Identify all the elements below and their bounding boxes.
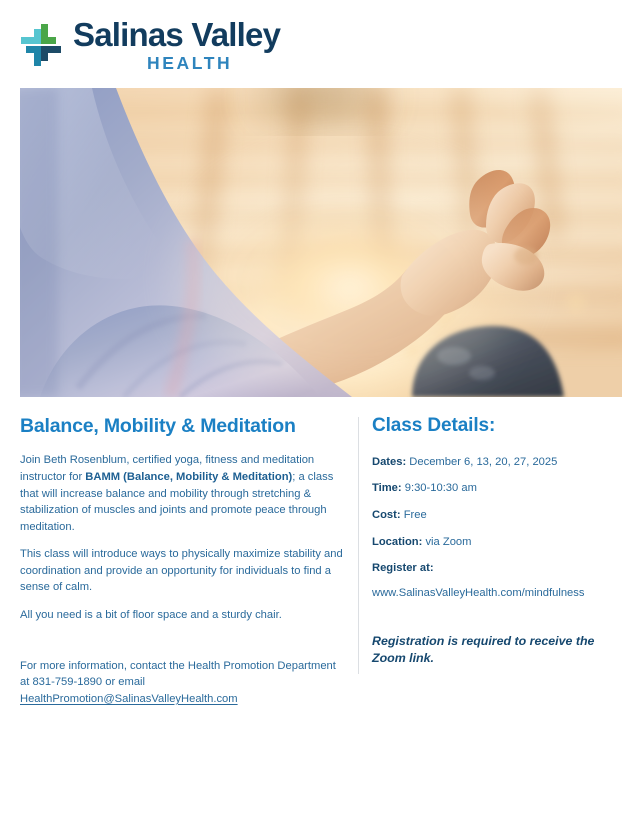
contact-block: For more information, contact the Health… (20, 658, 346, 708)
text-run: All you need is a bit of floor space and… (20, 609, 282, 621)
detail-row: Dates: December 6, 13, 20, 27, 2025 (372, 455, 622, 471)
paragraph-overview: This class will introduce ways to physic… (20, 546, 346, 596)
emphasized-text: BAMM (Balance, Mobility & Meditation) (85, 471, 292, 483)
detail-row: Time: 9:30-10:30 am (372, 481, 622, 497)
email-link[interactable]: HealthPromotion@SalinasValleyHealth.com (20, 693, 238, 705)
paragraph-requirements: All you need is a bit of floor space and… (20, 607, 346, 624)
detail-label: Register at: (372, 562, 434, 574)
wordmark-primary: Salinas Valley (73, 18, 280, 52)
detail-value: via Zoom (422, 536, 471, 548)
wordmark-secondary: HEALTH (147, 55, 232, 73)
detail-row: Cost: Free (372, 508, 622, 524)
description-paragraphs: Join Beth Rosenblum, certified yoga, fit… (20, 452, 346, 623)
detail-label: Dates: (372, 456, 406, 468)
detail-row: Register at: (372, 561, 622, 577)
detail-label: Location: (372, 536, 422, 548)
registration-notice: Registration is required to receive the … (372, 633, 622, 666)
hero-photo (20, 88, 622, 397)
detail-label: Time: (372, 482, 402, 494)
right-column: Class Details: Dates: December 6, 13, 20… (372, 415, 622, 666)
detail-value: 9:30-10:30 am (402, 482, 477, 494)
brand-wordmark: Salinas Valley HEALTH (73, 18, 280, 72)
salinas-valley-health-logo-icon (20, 23, 62, 67)
contact-text: For more information, contact the Health… (20, 658, 346, 708)
contact-prefix: For more information, contact the Health… (20, 660, 336, 689)
detail-label: Cost: (372, 509, 401, 521)
page-title: Balance, Mobility & Meditation (20, 415, 346, 438)
left-column: Balance, Mobility & Meditation Join Beth… (20, 415, 346, 707)
paragraph-intro: Join Beth Rosenblum, certified yoga, fit… (20, 452, 346, 535)
column-divider (358, 417, 359, 674)
detail-row: Location: via Zoom (372, 535, 622, 551)
flyer-page: Salinas Valley HEALTH (0, 0, 643, 831)
detail-value: Free (401, 509, 427, 521)
registration-url[interactable]: www.SalinasValleyHealth.com/mindfulness (372, 586, 622, 602)
class-details-heading: Class Details: (372, 415, 622, 438)
text-run: This class will introduce ways to physic… (20, 548, 343, 593)
detail-value: December 6, 13, 20, 27, 2025 (406, 456, 557, 468)
brand-header: Salinas Valley HEALTH (20, 14, 280, 76)
class-details-list: Dates: December 6, 13, 20, 27, 2025 Time… (372, 455, 622, 577)
